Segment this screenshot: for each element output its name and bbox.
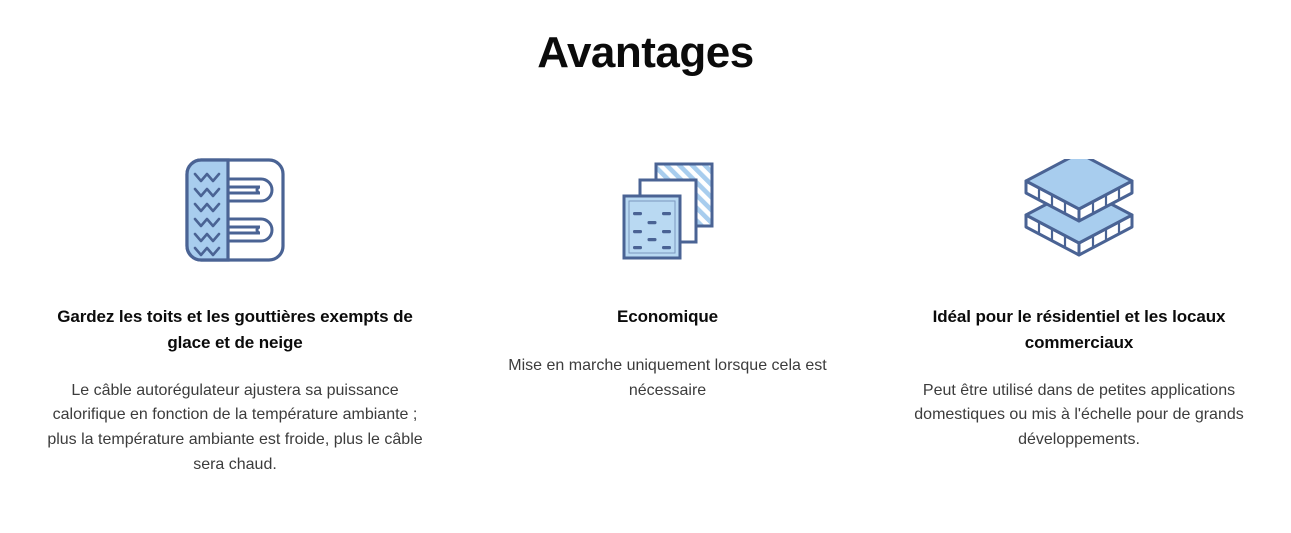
stacked-platforms-icon [1018,159,1140,261]
feature-column-1: Gardez les toits et les gouttières exemp… [10,150,460,478]
feature-title-3: Idéal pour le résidentiel et les locaux … [894,304,1264,357]
stacked-layers-icon [618,158,718,262]
feature-body-3: Peut être utilisé dans de petites applic… [899,379,1259,453]
feature-title-1: Gardez les toits et les gouttières exemp… [35,304,435,357]
feature-body-1: Le câble autorégulateur ajustera sa puis… [39,379,431,478]
feature-icon-wrapper-2 [618,150,718,270]
feature-icon-wrapper-3 [1018,150,1140,270]
feature-icon-wrapper-1 [183,150,287,270]
features-row: Gardez les toits et les gouttières exemp… [0,150,1291,478]
feature-column-3: Idéal pour le résidentiel et les locaux … [879,150,1279,453]
feature-column-2: Economique Mise en marche uniquement lor… [470,150,865,404]
feature-body-2: Mise en marche uniquement lorsque cela e… [503,354,833,404]
self-regulating-heating-cable-icon [183,156,287,264]
feature-title-2: Economique [498,304,838,330]
advantages-section: Avantages [0,0,1291,533]
page-title: Avantages [0,28,1291,79]
